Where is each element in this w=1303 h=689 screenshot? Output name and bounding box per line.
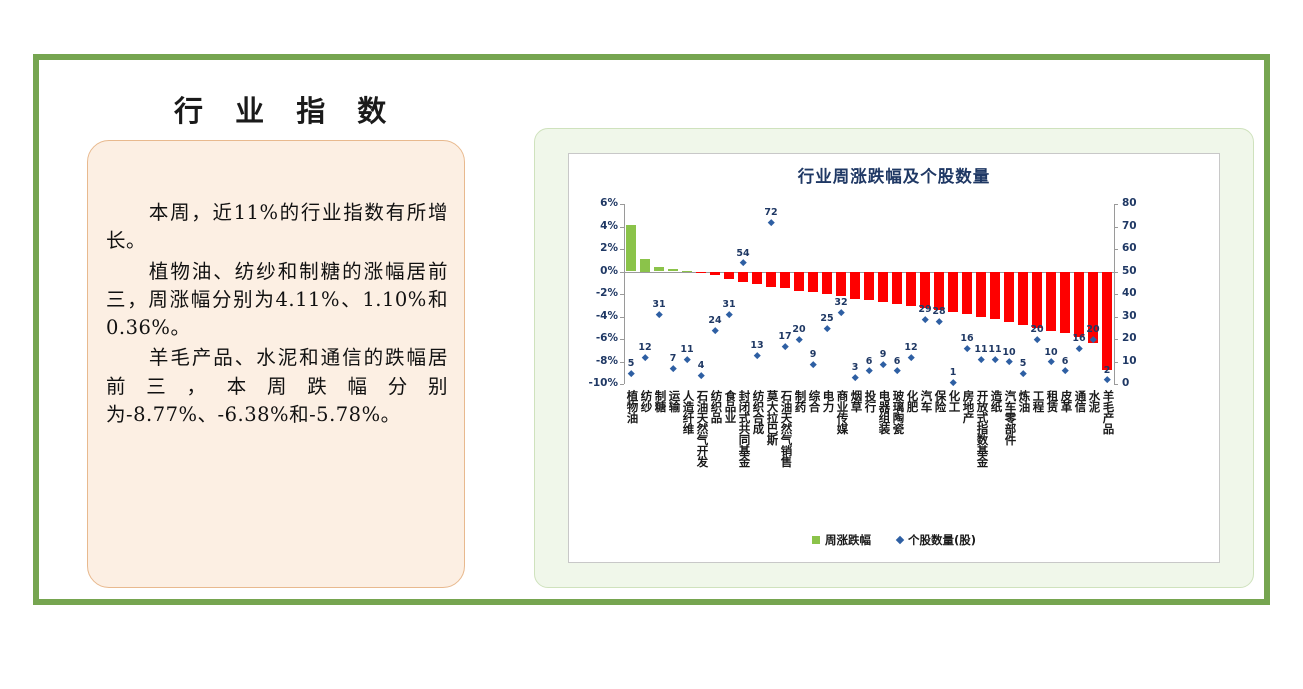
right-axis-tick-label: 10 [1122,355,1152,367]
chart-bar [808,272,818,293]
x-axis-label: 造纸 [989,390,1002,412]
legend-label-stock-count: 个股数量(股) [908,532,976,548]
left-axis-tick-label: -2% [576,287,618,299]
data-point-marker [712,327,718,333]
x-axis-label: 化肥 [905,390,918,412]
data-point-label: 13 [745,340,769,351]
data-point-marker [852,374,858,380]
left-axis-tick [620,317,624,318]
right-axis-tick-label: 50 [1122,265,1152,277]
right-axis-tick [1114,204,1118,205]
data-point-marker [936,318,942,324]
x-axis-label: 商业传媒 [835,390,848,434]
right-axis-tick-label: 40 [1122,287,1152,299]
chart-bar [794,272,804,291]
slide-frame: 行 业 指 数 本周，近11%的行业指数有所增长。 植物油、纺纱和制糖的涨幅居前… [33,54,1270,605]
data-point-marker [1020,370,1026,376]
x-axis-label: 汽车零部件 [1003,390,1016,445]
x-axis-label: 租赁 [1045,390,1058,412]
right-axis-tick [1114,294,1118,295]
chart-bar [1060,272,1070,334]
chart-bar [752,272,762,285]
summary-text: 本周，近11%的行业指数有所增长。 植物油、纺纱和制糖的涨幅居前三，周涨幅分别为… [106,199,448,431]
chart-bar [738,272,748,283]
legend-item-weekly-change: 周涨跌幅 [812,532,871,548]
right-axis-tick-label: 80 [1122,197,1152,209]
right-axis-tick-label: 30 [1122,310,1152,322]
green-square-icon [812,536,820,544]
data-point-label: 4 [689,360,713,371]
data-point-marker [824,325,830,331]
chart-bar [668,269,678,271]
x-axis-label: 纺织品 [709,390,722,423]
right-axis-tick [1114,362,1118,363]
data-point-label: 54 [731,248,755,259]
x-axis-label: 工程 [1031,390,1044,412]
data-point-marker [978,356,984,362]
data-point-label: 12 [633,342,657,353]
data-point-label: 31 [647,299,671,310]
data-point-label: 10 [997,347,1021,358]
right-axis-tick-label: 70 [1122,220,1152,232]
chart-bar [878,272,888,302]
x-axis-label: 开放式指数基金 [975,390,988,467]
right-axis-tick [1114,317,1118,318]
data-point-label: 28 [927,306,951,317]
x-axis-label: 通信 [1073,390,1086,412]
blue-diamond-icon [896,536,904,544]
data-point-label: 5 [1011,358,1035,369]
x-axis-label: 莫大拉巴斯 [765,390,778,445]
data-point-marker [894,367,900,373]
left-axis-tick-label: -4% [576,310,618,322]
chart-bar [1046,272,1056,331]
chart-plate: 行业周涨跌幅及个股数量 6%4%2%0%-2%-4%-6%-8%-10%8070… [568,153,1220,563]
left-axis-tick [620,294,624,295]
x-axis-label: 制药 [793,390,806,412]
summary-paragraph: 羊毛产品、水泥和通信的跌幅居前三，本周跌幅分别为-8.77%、-6.38%和-5… [106,344,448,429]
data-point-label: 2 [1095,365,1119,376]
data-point-marker [782,343,788,349]
right-axis-tick [1114,227,1118,228]
chart-bar [654,267,664,271]
data-point-marker [1076,345,1082,351]
x-axis-label: 封闭式共同基金 [737,390,750,467]
x-axis-label: 汽车 [919,390,932,412]
summary-paragraph: 植物油、纺纱和制糖的涨幅居前三，周涨幅分别为4.11%、1.10%和0.36%。 [106,258,448,343]
data-point-marker [754,352,760,358]
summary-paragraph: 本周，近11%的行业指数有所增长。 [106,199,448,256]
chart-bar [892,272,902,305]
chart-bar [962,272,972,315]
x-axis-label: 植物油 [625,390,638,423]
x-axis-label: 制糖 [653,390,666,412]
chart-bar [724,272,734,280]
x-axis-label: 玻璃陶瓷 [891,390,904,434]
data-point-marker [1104,376,1110,382]
data-point-marker [810,361,816,367]
data-point-label: 31 [717,299,741,310]
chart-bar [822,272,832,295]
data-point-marker [950,379,956,385]
chart-bar [850,272,860,299]
left-column: 行 业 指 数 本周，近11%的行业指数有所增长。 植物油、纺纱和制糖的涨幅居前… [39,60,509,599]
data-point-marker [1034,336,1040,342]
data-point-marker [670,365,676,371]
chart-bar [1032,272,1042,328]
chart-bar [766,272,776,287]
chart-bar [1102,272,1112,371]
chart-panel: 行业周涨跌幅及个股数量 6%4%2%0%-2%-4%-6%-8%-10%8070… [534,128,1254,588]
left-axis-tick-label: -6% [576,332,618,344]
x-axis-label: 房地产 [961,390,974,423]
data-point-label: 72 [759,207,783,218]
right-axis-tick [1114,249,1118,250]
chart-bar [1004,272,1014,323]
data-point-marker [1062,367,1068,373]
left-axis-tick [620,249,624,250]
x-axis-label: 石油天然气销售 [779,390,792,467]
data-point-label: 12 [899,342,923,353]
left-axis-tick-label: 6% [576,197,618,209]
chart-bar [710,272,720,276]
x-axis-label: 综合 [807,390,820,412]
data-point-label: 9 [801,349,825,360]
data-point-label: 20 [1025,324,1049,335]
x-axis-label: 电器组装 [877,390,890,434]
left-axis-tick [620,227,624,228]
x-axis-label: 纺纱 [639,390,652,412]
legend-item-stock-count: 个股数量(股) [897,532,976,548]
right-axis-tick-label: 20 [1122,332,1152,344]
data-point-label: 32 [829,297,853,308]
right-axis-tick [1114,272,1118,273]
chart-title: 行业周涨跌幅及个股数量 [569,163,1219,187]
left-axis-tick [620,339,624,340]
left-axis-tick [620,272,624,273]
x-axis-label: 羊毛产品 [1101,390,1114,434]
page-title: 行 业 指 数 [174,88,397,130]
data-point-label: 5 [619,358,643,369]
chart-bar [682,271,692,272]
left-axis-tick-label: 4% [576,220,618,232]
chart-bar [864,272,874,301]
chart-bar [1018,272,1028,325]
data-point-label: 6 [885,356,909,367]
data-point-marker [698,372,704,378]
x-axis-label: 皮革 [1059,390,1072,412]
chart-bar [640,259,650,271]
plot-area: 6%4%2%0%-2%-4%-6%-8%-10%8070605040302010… [624,204,1114,384]
x-axis-label: 化工 [947,390,960,412]
data-point-marker [740,259,746,265]
right-axis-tick-label: 60 [1122,242,1152,254]
left-axis-tick-label: -8% [576,355,618,367]
left-axis-tick-label: -10% [576,377,618,389]
chart-bar [920,272,930,309]
data-point-label: 6 [1053,356,1077,367]
x-axis-label: 保险 [933,390,946,412]
data-point-label: 20 [1081,324,1105,335]
legend-label-weekly-change: 周涨跌幅 [825,532,871,548]
data-point-label: 1 [941,367,965,378]
chart-bar [976,272,986,317]
x-axis-label: 运输 [667,390,680,412]
data-point-marker [656,311,662,317]
summary-card: 本周，近11%的行业指数有所增长。 植物油、纺纱和制糖的涨幅居前三，周涨幅分别为… [87,140,465,588]
chart-legend: 周涨跌幅 个股数量(股) [569,532,1219,548]
x-axis-label: 投行 [863,390,876,412]
chart-bar [626,225,636,271]
data-point-label: 16 [955,333,979,344]
chart-bar [780,272,790,289]
right-axis-tick-label: 0 [1122,377,1152,389]
data-point-marker [628,370,634,376]
right-axis-tick [1114,384,1118,385]
left-axis-tick [620,384,624,385]
x-axis-label: 食品业 [723,390,736,423]
x-axis-label: 烟草 [849,390,862,412]
x-axis-category-labels: 植物油纺纱制糖运输人造纤维石油天然气开发纺织品食品业封闭式共同基金纺织合成莫大拉… [624,390,1114,510]
x-axis-label: 炼油 [1017,390,1030,412]
x-axis-label: 人造纤维 [681,390,694,434]
chart-bar [906,272,916,306]
chart-bar [836,272,846,297]
left-axis-tick [620,204,624,205]
x-axis-label: 纺织合成 [751,390,764,434]
left-axis-tick-label: 2% [576,242,618,254]
data-point-label: 24 [703,315,727,326]
left-axis-tick-label: 0% [576,265,618,277]
chart-bar [696,272,706,273]
chart-bar [990,272,1000,320]
x-axis-label: 石油天然气开发 [695,390,708,467]
data-point-marker [768,219,774,225]
x-axis-label: 电力 [821,390,834,412]
data-point-label: 11 [675,344,699,355]
x-axis-label: 水泥 [1087,390,1100,412]
data-point-label: 20 [787,324,811,335]
right-axis-tick [1114,339,1118,340]
data-point-label: 25 [815,313,839,324]
